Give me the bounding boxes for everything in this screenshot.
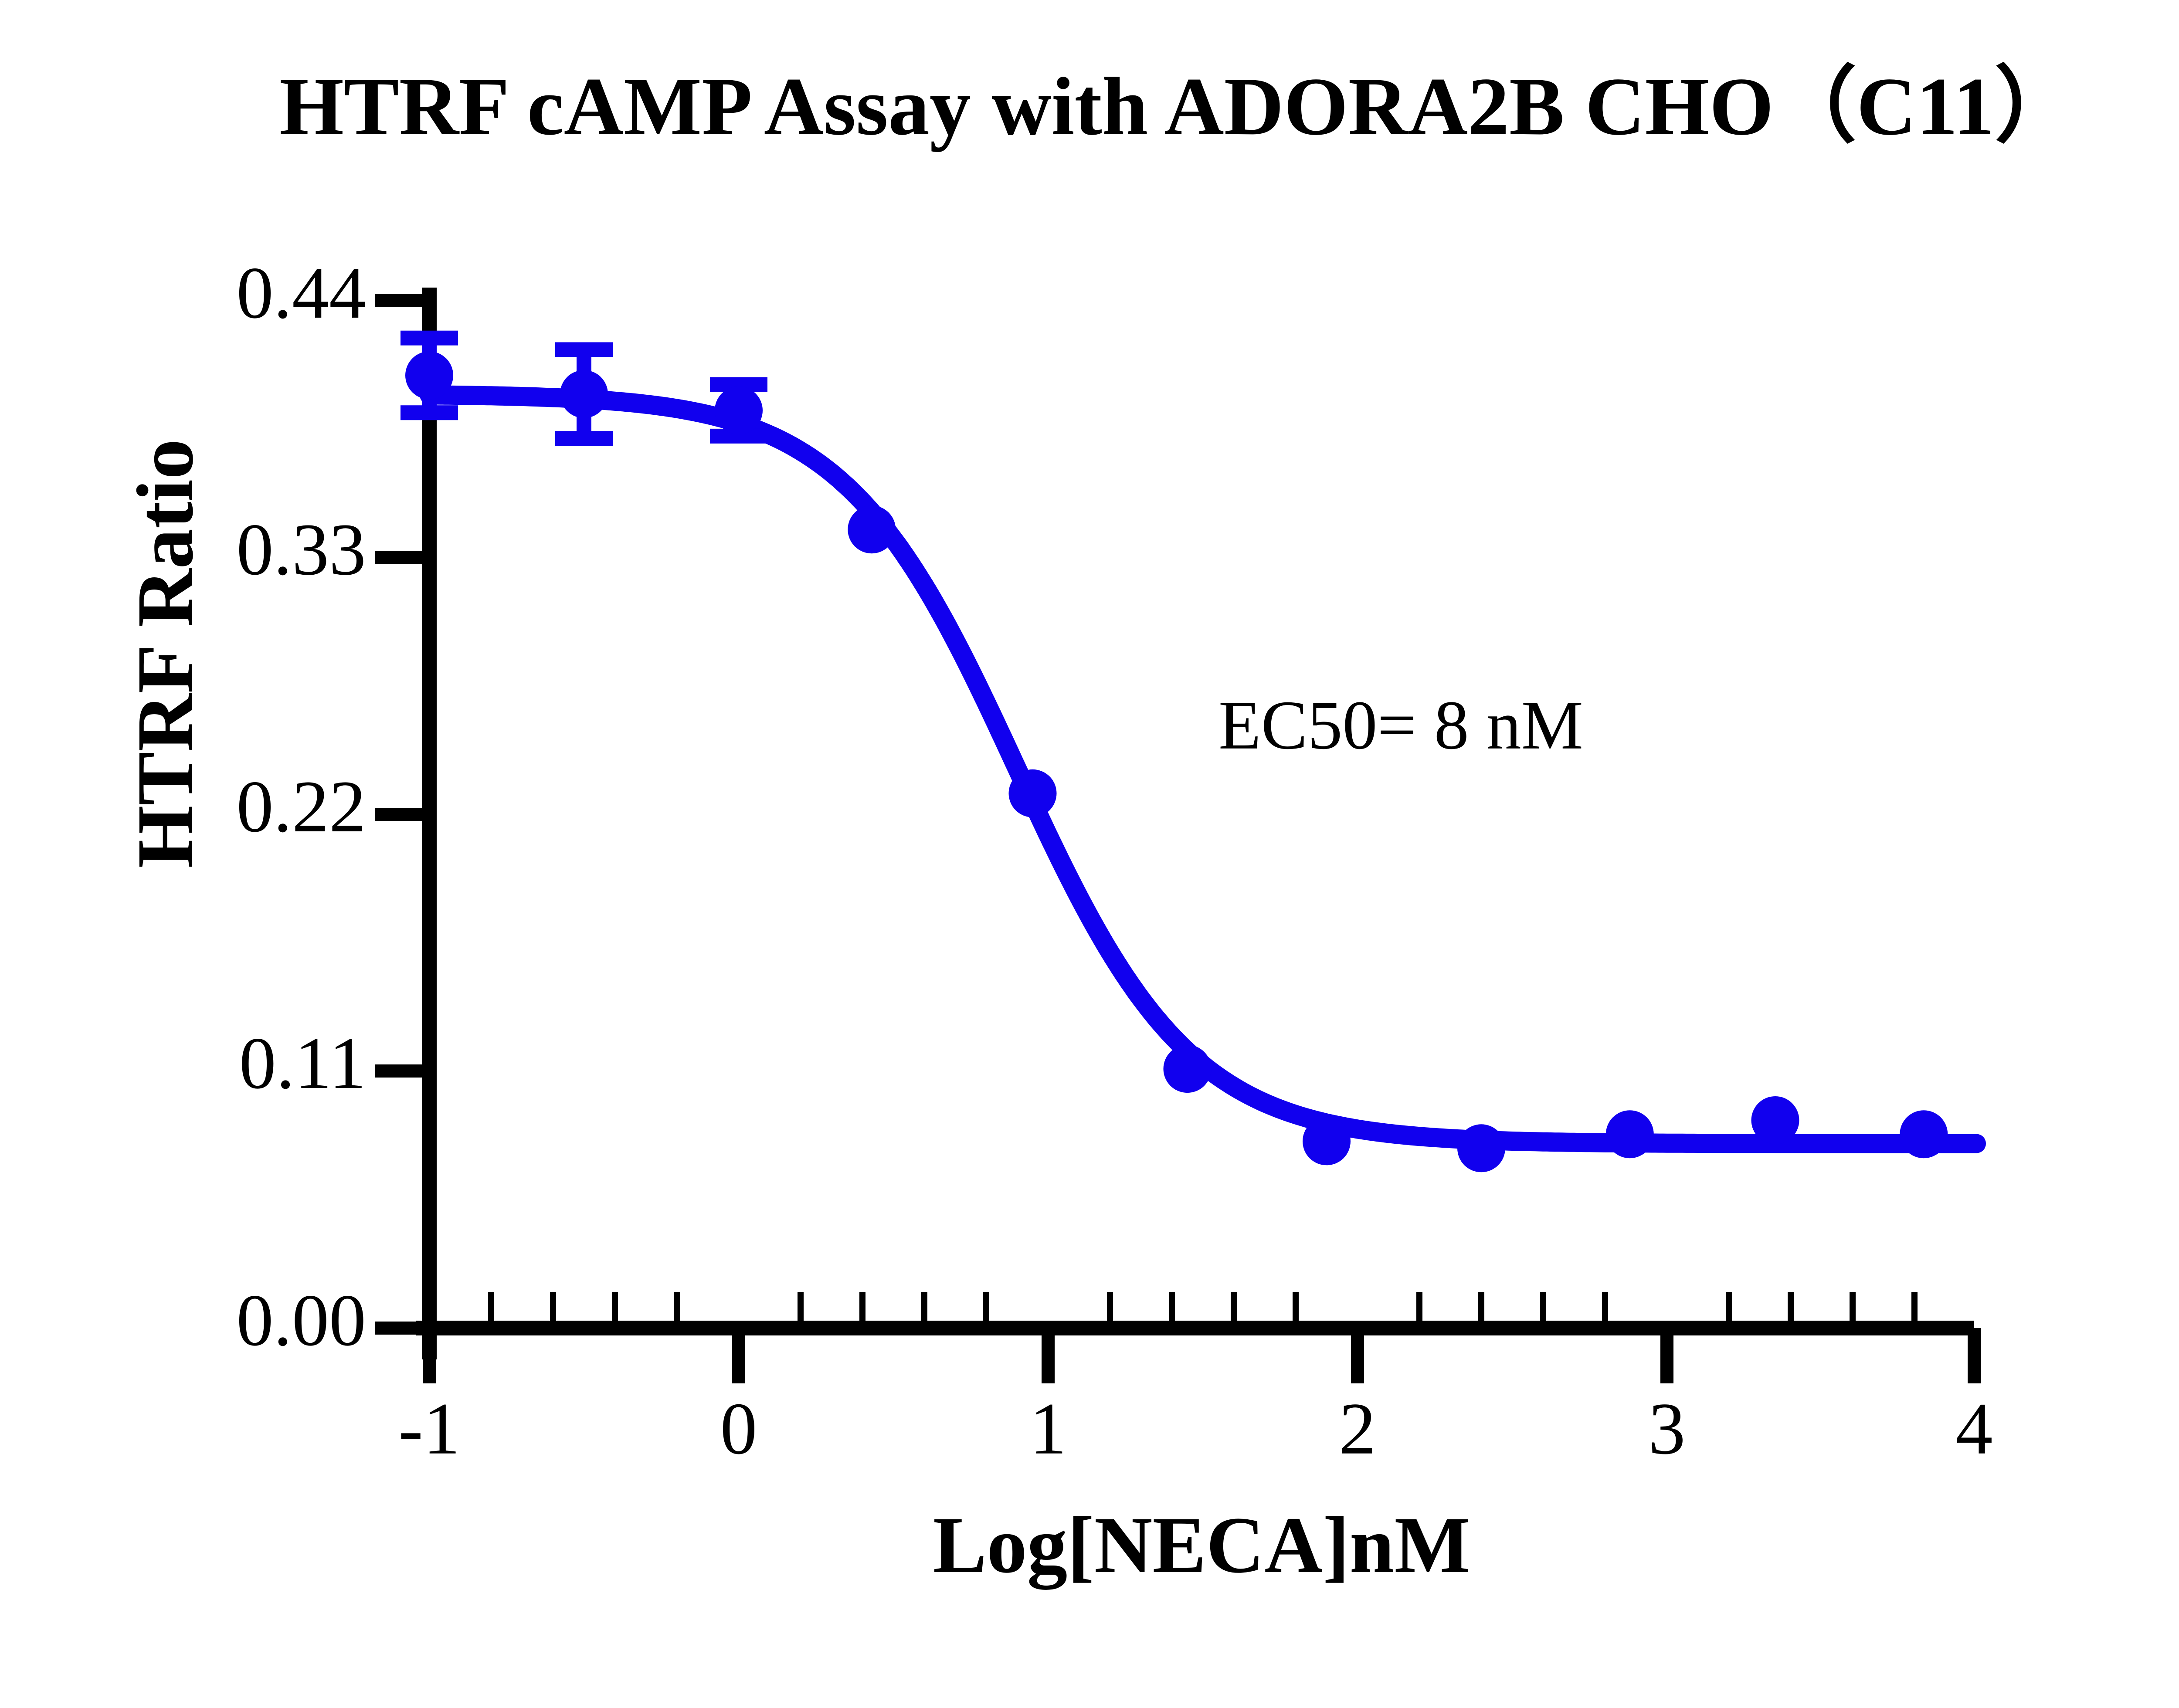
data-point (1303, 1117, 1351, 1165)
x-tick-label-4: 3 (1649, 1388, 1686, 1470)
y-tick-label-0: 0.00 (237, 1279, 367, 1361)
data-point (1900, 1110, 1948, 1158)
x-tick-label-2: 1 (1030, 1388, 1067, 1470)
chart-canvas: HTRF cAMP Assay with ADORA2B CHO（C11） HT… (0, 0, 2179, 1708)
data-point (848, 505, 896, 553)
y-tick-label-2: 0.22 (237, 766, 367, 847)
data-point (1751, 1096, 1799, 1144)
y-axis-ticks (375, 301, 429, 1328)
data-point (1457, 1124, 1505, 1172)
x-tick-label-1: 0 (720, 1388, 757, 1470)
data-point (1009, 769, 1057, 817)
y-tick-label-4: 0.44 (237, 252, 367, 334)
x-axis-minor-ticks (491, 1292, 1914, 1321)
x-tick-label-0: -1 (398, 1388, 460, 1470)
data-point (1606, 1110, 1654, 1158)
x-tick-label-3: 2 (1339, 1388, 1376, 1470)
y-axis-tick-labels: 0.44 0.33 0.22 0.11 0.00 (237, 252, 367, 1361)
data-point (560, 370, 608, 418)
plot-area: 0.44 0.33 0.22 0.11 0.00 (0, 0, 2179, 1708)
axis-lines (416, 288, 1974, 1359)
data-point (715, 386, 763, 434)
data-points (405, 352, 1948, 1173)
fit-curve (429, 395, 1976, 1143)
data-point (1164, 1045, 1212, 1093)
data-point (405, 352, 453, 400)
y-tick-label-3: 0.33 (237, 508, 367, 590)
x-axis-tick-labels: -1 0 1 2 3 4 (398, 1388, 1992, 1470)
ec50-annotation: EC50= 8 nM (1218, 686, 1583, 764)
y-tick-label-1: 0.11 (239, 1022, 366, 1104)
x-axis-ticks (429, 1328, 1974, 1383)
x-tick-label-5: 4 (1956, 1388, 1993, 1470)
